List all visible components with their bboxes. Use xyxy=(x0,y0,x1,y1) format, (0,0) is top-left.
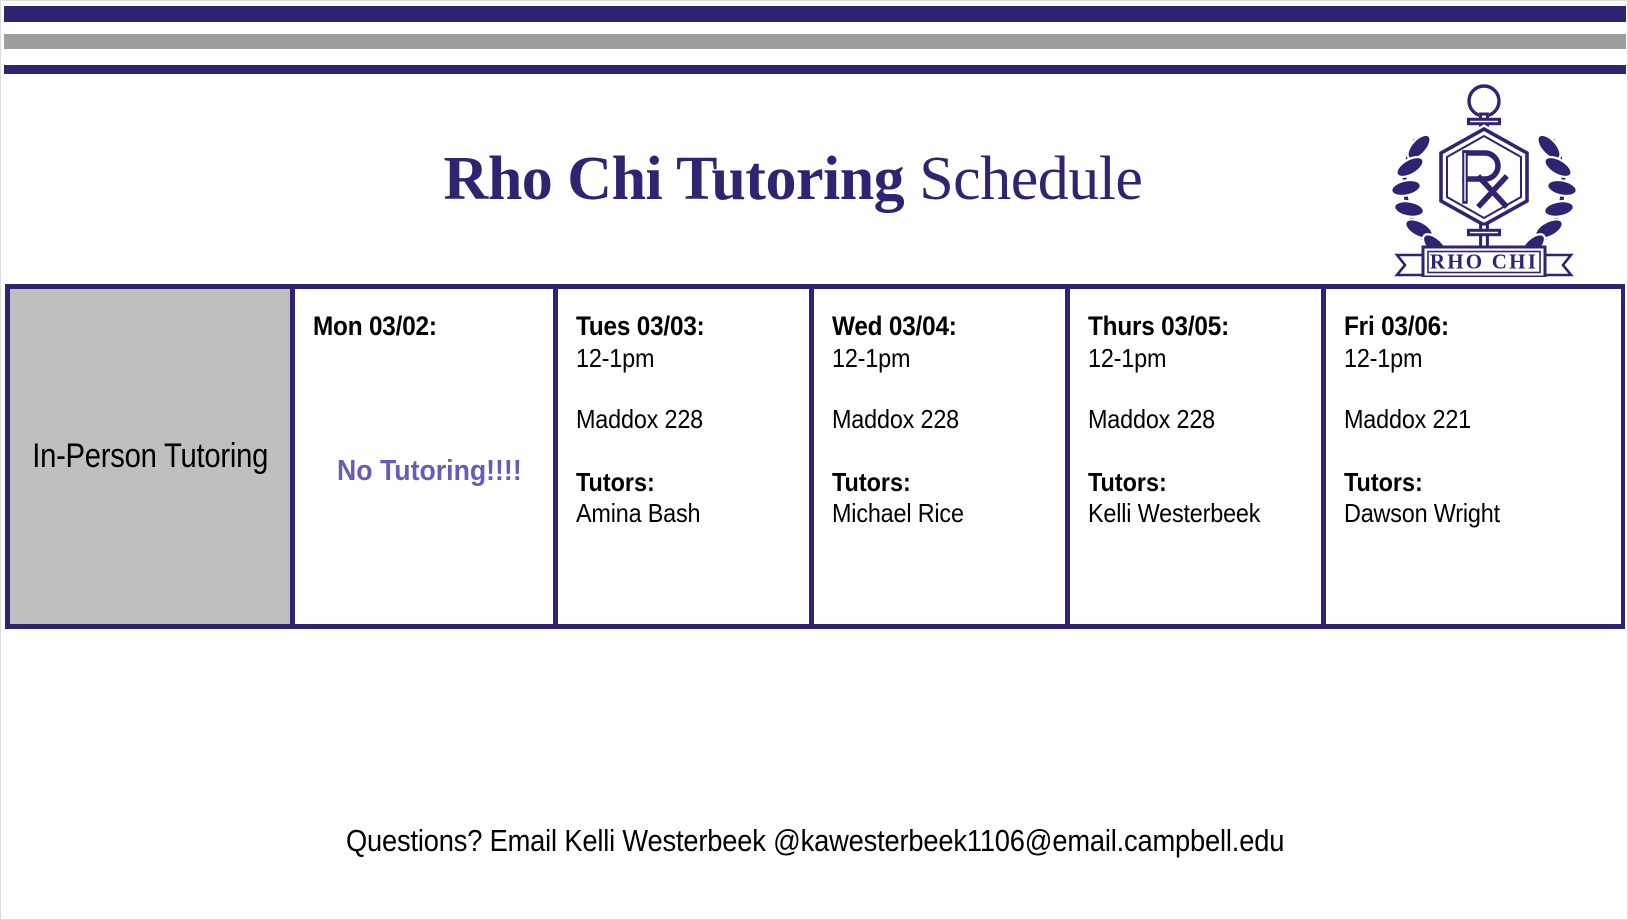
page-title-strong: Rho Chi Tutoring xyxy=(444,145,905,213)
spacer xyxy=(832,435,1065,467)
page-title-light: Schedule xyxy=(904,145,1142,213)
rho-chi-crest-logo: RHO CHI xyxy=(1379,79,1589,277)
day-heading-wed: Wed 03/04: xyxy=(832,311,1042,343)
tutors-label-thurs: Tutors: xyxy=(1088,467,1298,498)
day-time-wed: 12-1pm xyxy=(832,343,1042,374)
day-heading-mon: Mon 03/02: xyxy=(313,311,529,343)
schedule-cell-fri: Fri 03/06: 12-1pm Maddox 221 Tutors: Daw… xyxy=(1326,289,1582,624)
row-label-text: In-Person Tutoring xyxy=(32,437,268,476)
day-heading-fri: Fri 03/06: xyxy=(1344,311,1558,343)
spacer xyxy=(576,435,809,467)
day-heading-tues: Tues 03/03: xyxy=(576,311,786,343)
day-room-thurs: Maddox 228 xyxy=(1088,404,1298,435)
header-bar-navy-thin xyxy=(4,65,1626,74)
day-time-thurs: 12-1pm xyxy=(1088,343,1298,374)
tutors-label-wed: Tutors: xyxy=(832,467,1042,498)
spacer xyxy=(576,374,809,404)
tutor-name-fri: Dawson Wright xyxy=(1344,498,1558,529)
header-bar-stack xyxy=(1,1,1628,79)
flyer-page: Rho Chi Tutoring Schedule xyxy=(0,0,1628,920)
footer-contact-text: Questions? Email Kelli Westerbeek @kawes… xyxy=(346,823,1284,859)
tutors-label-fri: Tutors: xyxy=(1344,467,1558,498)
schedule-cell-wed: Wed 03/04: 12-1pm Maddox 228 Tutors: Mic… xyxy=(814,289,1070,624)
spacer xyxy=(832,374,1065,404)
day-heading-thurs: Thurs 03/05: xyxy=(1088,311,1298,343)
day-room-fri: Maddox 221 xyxy=(1344,404,1558,435)
schedule-cell-mon: Mon 03/02: No Tutoring!!!! xyxy=(295,289,558,624)
schedule-cell-thurs: Thurs 03/05: 12-1pm Maddox 228 Tutors: K… xyxy=(1070,289,1326,624)
day-time-tues: 12-1pm xyxy=(576,343,786,374)
row-label-in-person-tutoring: In-Person Tutoring xyxy=(10,289,295,624)
header-bar-gray xyxy=(4,34,1626,49)
no-tutoring-note: No Tutoring!!!! xyxy=(337,455,522,488)
page-title: Rho Chi Tutoring Schedule xyxy=(444,144,1143,215)
spacer xyxy=(1088,435,1321,467)
spacer xyxy=(1088,374,1321,404)
tutor-name-wed: Michael Rice xyxy=(832,498,1042,529)
spacer xyxy=(1344,435,1582,467)
day-time-fri: 12-1pm xyxy=(1344,343,1558,374)
day-room-tues: Maddox 228 xyxy=(576,404,786,435)
schedule-cell-tues: Tues 03/03: 12-1pm Maddox 228 Tutors: Am… xyxy=(558,289,814,624)
spacer xyxy=(1344,374,1582,404)
crest-banner-text: RHO CHI xyxy=(1430,250,1538,274)
schedule-table: In-Person Tutoring Mon 03/02: No Tutorin… xyxy=(5,284,1625,629)
header-bar-navy-thick xyxy=(4,6,1626,22)
tutor-name-thurs: Kelli Westerbeek xyxy=(1088,498,1298,529)
day-room-wed: Maddox 228 xyxy=(832,404,1042,435)
tutor-name-tues: Amina Bash xyxy=(576,498,786,529)
footer: Questions? Email Kelli Westerbeek @kawes… xyxy=(1,823,1628,859)
tutors-label-tues: Tutors: xyxy=(576,467,786,498)
